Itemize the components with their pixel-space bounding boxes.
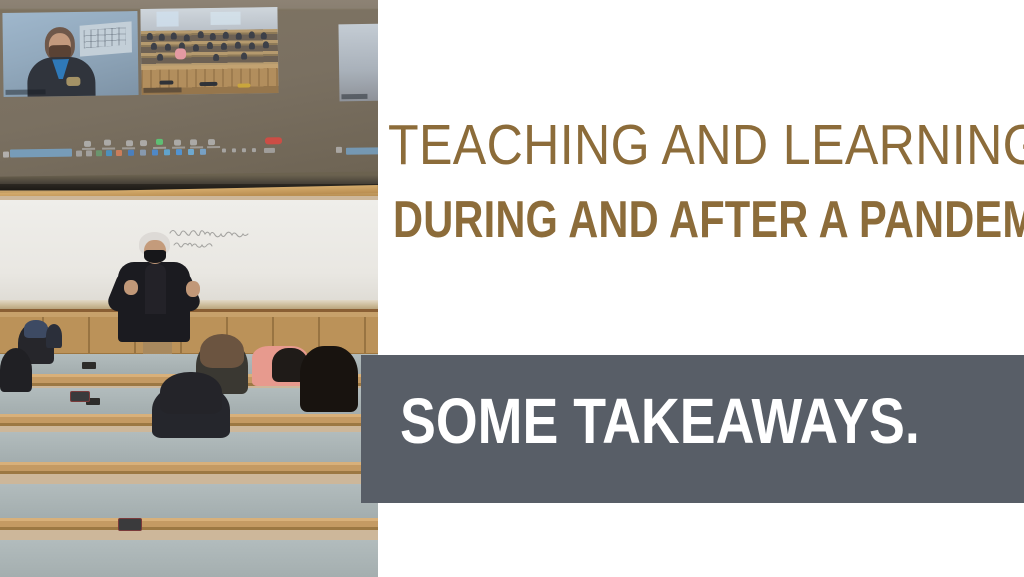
app-icon[interactable] [176, 149, 182, 155]
room-person-pink-shirt [175, 48, 186, 59]
app-icon[interactable] [116, 150, 122, 156]
tray-icon[interactable] [232, 148, 236, 152]
file-explorer-icon[interactable] [86, 150, 92, 156]
subtitle-text: SOME TAKEAWAYS. [400, 389, 921, 453]
row-riser [0, 540, 378, 577]
presenter-hand-right [186, 281, 200, 297]
video-tile-room-camera [140, 7, 278, 95]
start-icon[interactable] [3, 152, 9, 158]
microphone-icon [84, 141, 91, 147]
tray-icon[interactable] [222, 148, 226, 152]
task-view-icon[interactable] [76, 150, 82, 156]
clock-readout[interactable] [264, 148, 275, 153]
taskbar-search-input[interactable] [346, 147, 378, 154]
lecture-room [0, 196, 378, 577]
subtitle-band: SOME TAKEAWAYS. [361, 355, 1024, 503]
app-icon[interactable] [96, 150, 102, 156]
tile-whiteboard [80, 21, 132, 56]
student-hair [200, 334, 244, 368]
video-tile-remote-participant [2, 11, 138, 97]
whiteboard-handwriting [168, 222, 256, 250]
room-window-left [156, 11, 178, 26]
slide-canvas: TEACHING AND LEARNING DURING AND AFTER A… [0, 0, 1024, 577]
app-icon[interactable] [188, 149, 194, 155]
record-icon [174, 140, 181, 146]
tray-icon[interactable] [242, 148, 246, 152]
row-desk [0, 518, 378, 530]
student-hair [300, 346, 358, 412]
reactions-icon [208, 139, 215, 145]
student-head [160, 372, 222, 414]
desk-outlet [82, 362, 96, 369]
tile-name-label [144, 87, 182, 93]
title-line-two: DURING AND AFTER A PANDEMIC: [393, 196, 897, 244]
title-line-one: TEACHING AND LEARNING [388, 116, 941, 174]
room-desk-item [237, 83, 250, 87]
presenter-shirt [145, 264, 166, 314]
room-window-right [210, 12, 240, 25]
chat-icon [140, 140, 147, 146]
participants-icon [126, 140, 133, 146]
row-riser [0, 484, 378, 518]
taskbar-search-input[interactable] [10, 149, 72, 158]
end-meeting-button[interactable] [265, 137, 282, 144]
tile-whiteboard-ink [84, 27, 126, 49]
app-icon[interactable] [152, 149, 158, 155]
tile-name-label [341, 94, 367, 99]
app-icon[interactable] [200, 149, 206, 155]
room-seated-people [141, 29, 278, 65]
app-icon[interactable] [106, 150, 112, 156]
row-desk [0, 462, 378, 474]
student-cap [24, 320, 48, 338]
lecture-hall-photo [0, 0, 378, 577]
student-silhouette [0, 348, 32, 392]
app-icon[interactable] [128, 150, 134, 156]
tile-participant-logo [66, 77, 80, 86]
share-screen-icon [156, 139, 163, 145]
phone-on-desk [118, 518, 142, 531]
student-silhouette [46, 324, 62, 348]
app-icon[interactable] [164, 149, 170, 155]
app-icon[interactable] [140, 150, 146, 156]
presenter-hand-left [124, 280, 138, 295]
breakout-rooms-icon [190, 139, 197, 145]
room-desk-item [199, 82, 217, 86]
presenter-face-mask [144, 250, 166, 263]
room-desk-item [159, 81, 173, 85]
phone-on-desk [70, 391, 90, 402]
video-tile-partial [338, 24, 378, 102]
start-icon[interactable] [336, 147, 342, 153]
camera-icon [104, 140, 111, 146]
tray-icon[interactable] [252, 148, 256, 152]
tile-name-label [5, 89, 45, 95]
projector-wall [0, 0, 378, 196]
